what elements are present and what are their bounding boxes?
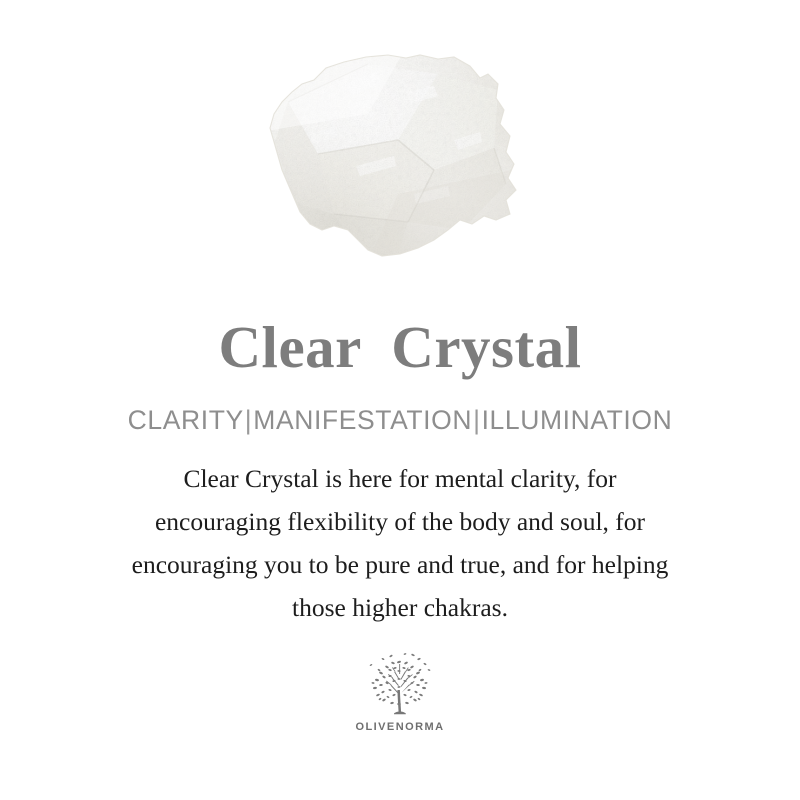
keyword-list: CLARITY|MANIFESTATION|ILLUMINATION [128, 406, 673, 435]
product-description: Clear Crystal is here for mental clarity… [50, 457, 750, 629]
brand-wordmark: OLIVENORMA [355, 721, 444, 733]
product-card: Clear Crystal CLARITY|MANIFESTATION|ILLU… [0, 0, 800, 800]
keyword-separator: | [472, 405, 481, 435]
keyword-separator: | [244, 405, 253, 435]
page-title: Clear Crystal [218, 318, 581, 380]
keyword-clarity: CLARITY [128, 405, 244, 435]
keyword-illumination: ILLUMINATION [482, 405, 673, 435]
brand-logo: OLIVENORMA [355, 650, 444, 733]
keyword-manifestation: MANIFESTATION [253, 405, 472, 435]
product-image-stage [0, 0, 800, 318]
olive-tree-icon [361, 650, 439, 718]
clear-crystal-illustration [248, 44, 540, 284]
clear-crystal-photo [248, 44, 540, 284]
